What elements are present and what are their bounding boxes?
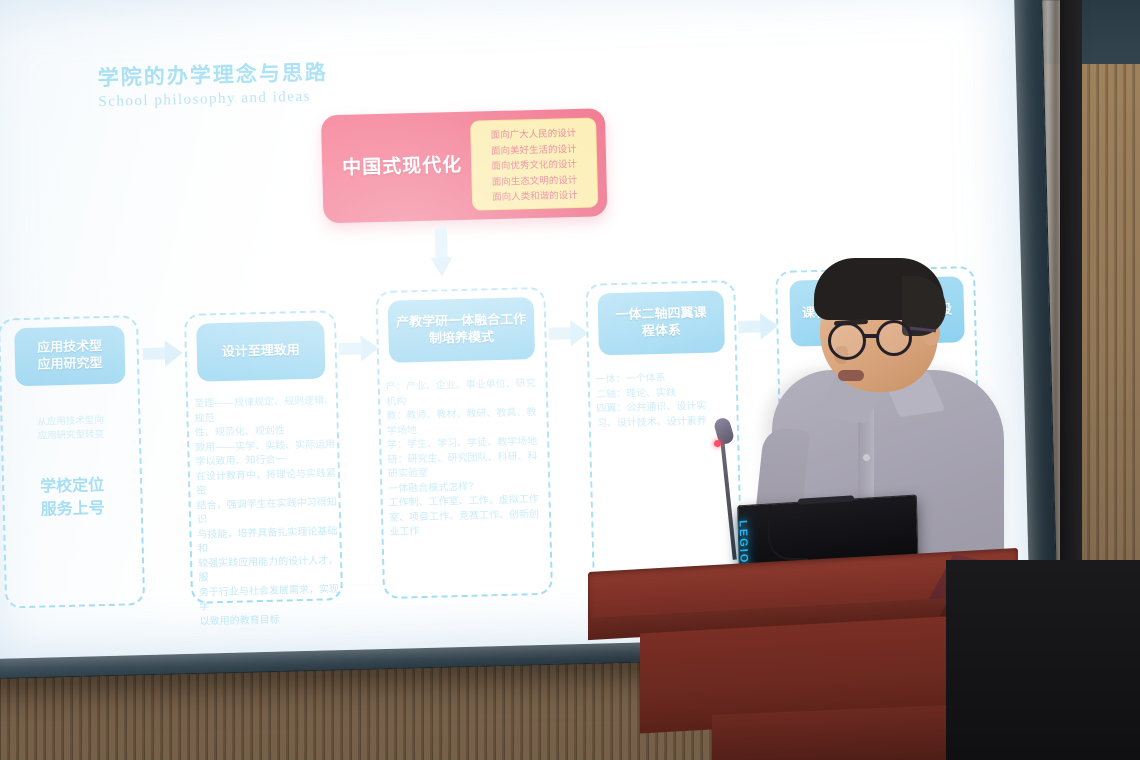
flow-chip-4: 一体二轴四翼课 程体系 [597,290,725,355]
detail-line: 结合，强调学生在实践中习得知识 [197,496,340,529]
detail-line: 至理——规律规定、规则逻辑、规范 [194,394,337,427]
flow-details-3: 产：产业、企业、事业单位、研究机构教：教师、教材、教研、教具、教学场地学：学生、… [386,377,548,540]
detail-line: 以致用的教育目标 [199,612,341,630]
arrow-right-icon [548,320,589,347]
flow-mininote-1: 从应用技术型向 应用研究型转变 [0,413,141,445]
presentation-room-scene: 学院的办学理念与思路 School philosophy and ideas 中… [0,0,1140,760]
detail-line: 在设计教育中，将理论与实践紧密 [196,467,339,500]
arrow-right-icon [338,335,379,362]
detail-line: 务于行业与社会发展需求，实现学 [199,583,342,616]
flow-chip-1: 应用技术型 应用研究型 [14,325,125,386]
flow-bignote-1: 学校定位 服务上号 [2,473,143,523]
room-shadow-right [946,560,1140,760]
laptop-cable [768,520,808,560]
microphone-led [714,440,721,447]
flow-chip-2: 设计至理致用 [196,320,325,381]
flow-chip-3: 产教学研一体融合工作 制培养模式 [388,297,536,363]
arrow-right-icon [143,340,184,367]
flow-details-2: 至理——规律规定、规则逻辑、规范性、规范化、规划性致用——实学、实践、实际运用学… [194,394,342,630]
detail-line: 与技能，培养具备扎实理论基础和 [197,525,340,558]
detail-line: 较强实践应用能力的设计人才，服 [198,554,341,587]
glasses-icon [828,322,866,360]
